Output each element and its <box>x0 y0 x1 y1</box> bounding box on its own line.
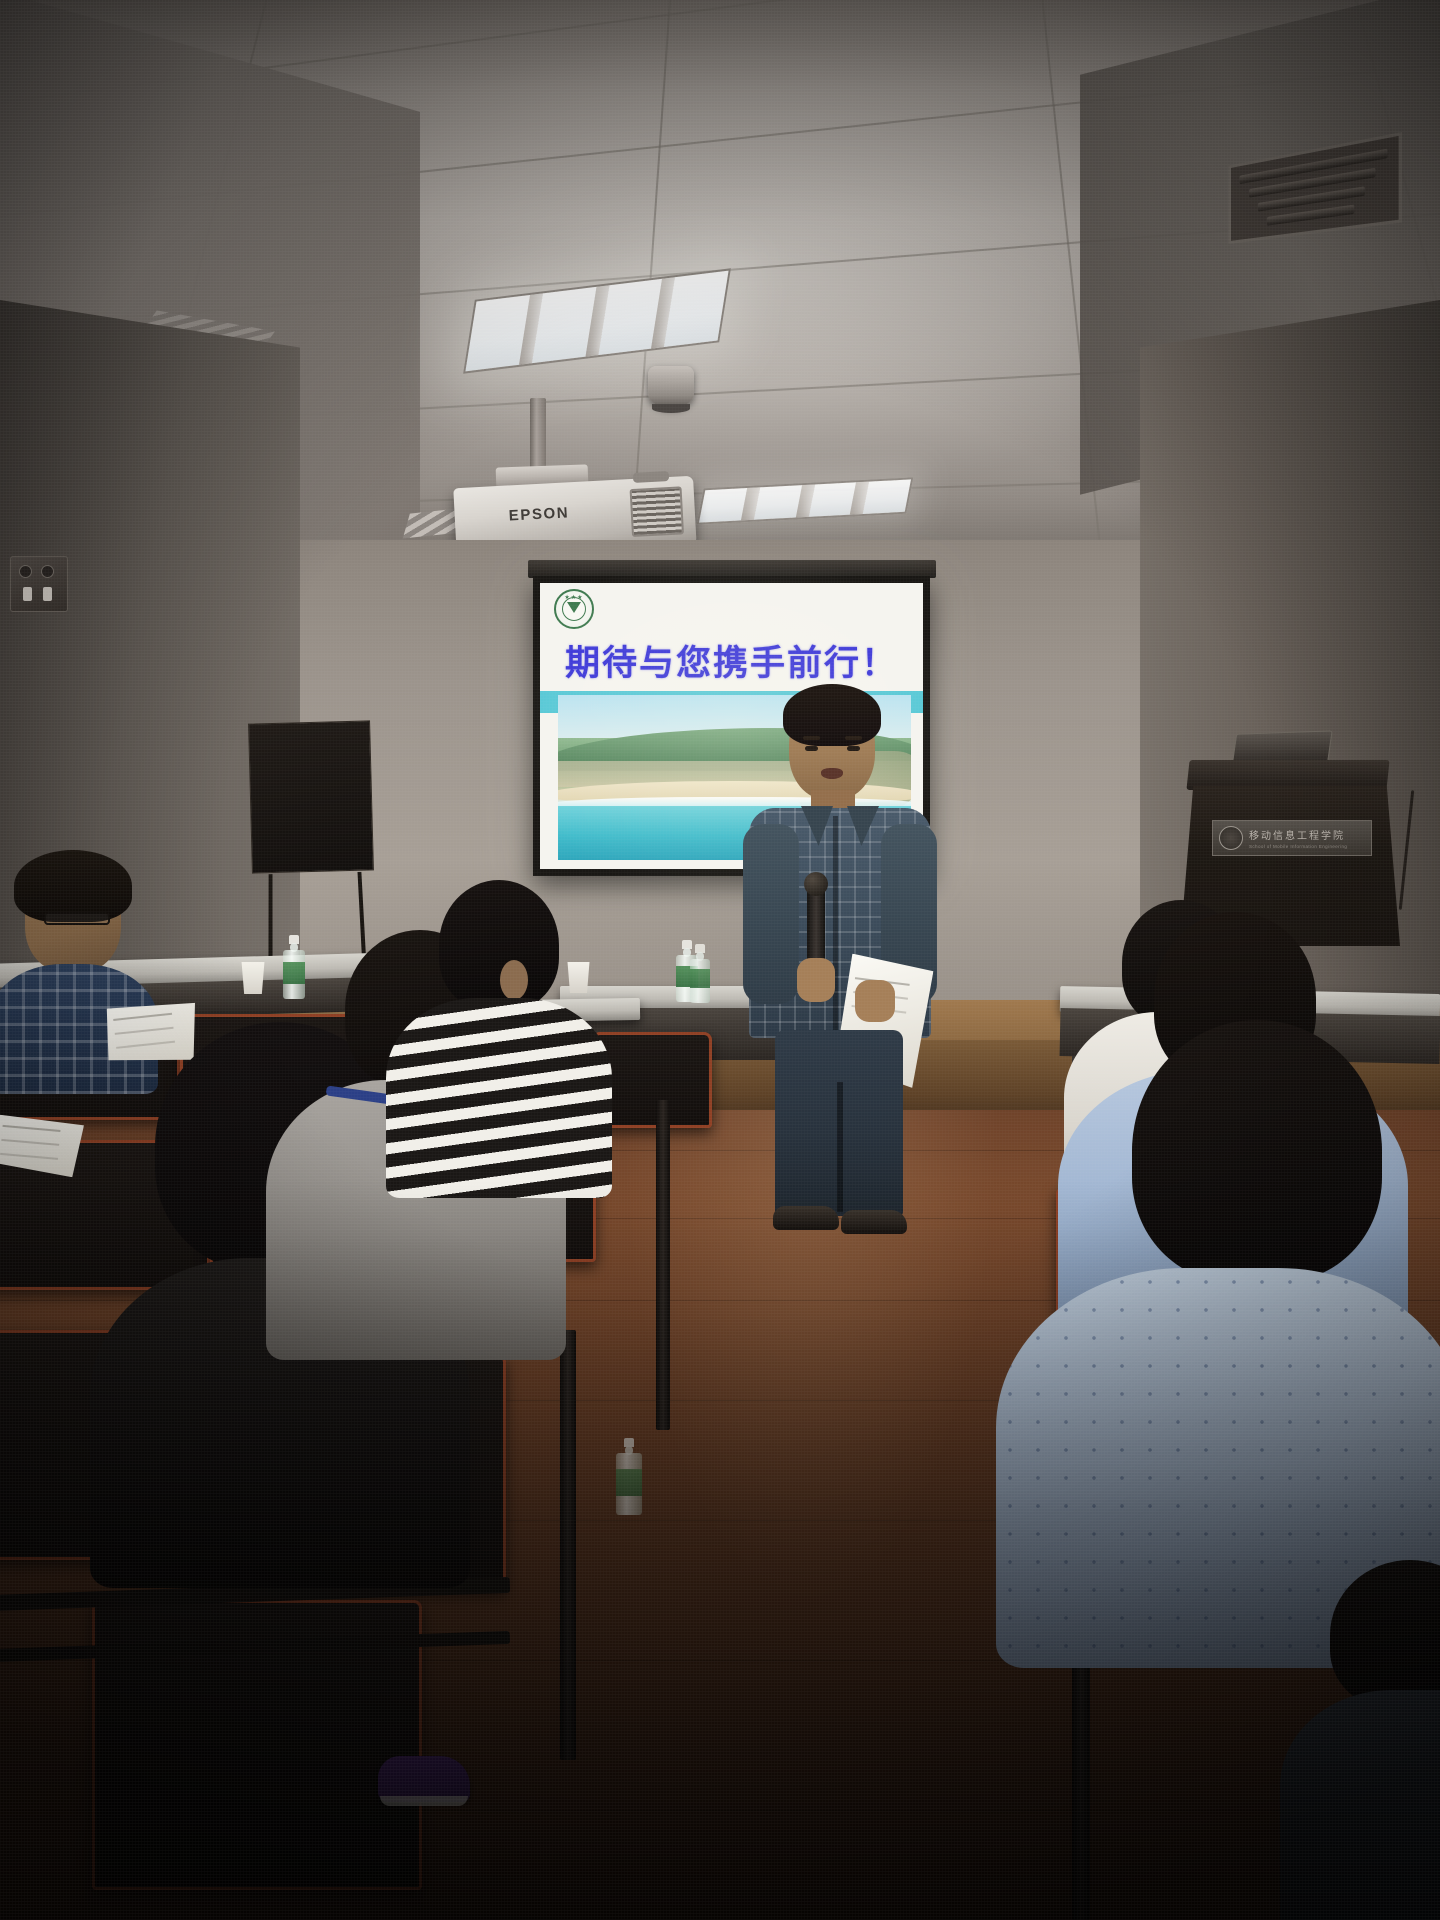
presenter-shoe-left <box>773 1206 839 1230</box>
attendee-hair <box>1330 1560 1440 1710</box>
attendee-striped-top <box>404 880 594 1200</box>
projector-brand-label: EPSON <box>508 504 569 524</box>
podium-plaque: 移动信息工程学院 School of Mobile Information En… <box>1212 820 1372 856</box>
presenter-shoe-right <box>841 1210 907 1234</box>
lecture-hall-photo: EPSON ★★★ 期待与您携手前行！ <box>0 0 1440 1920</box>
projector-vent-grille <box>630 486 684 537</box>
paper-cup-left[interactable] <box>240 962 266 994</box>
smoke-detector-icon <box>648 366 694 408</box>
school-seal-icon <box>1219 826 1243 850</box>
projector-mount-pole <box>530 398 546 476</box>
water-bottle-foreground[interactable] <box>616 1438 642 1518</box>
university-emblem-icon: ★★★ <box>554 589 594 629</box>
attendee-purple-shoe <box>378 1756 470 1802</box>
presenter-hand-right <box>855 980 895 1022</box>
podium-plaque-en: School of Mobile Information Engineering <box>1249 844 1365 849</box>
seat-support-post-centre <box>656 1100 670 1430</box>
presenter-hair <box>783 684 881 746</box>
water-bottle-centre-2[interactable] <box>690 944 710 1002</box>
seat-support-post-left <box>560 1330 576 1760</box>
attendee-hair <box>1132 1020 1382 1282</box>
attendee-dark-shirt-right <box>1310 1560 1440 1920</box>
flipchart-easel <box>248 720 374 873</box>
presenter-hand-left <box>797 958 835 1002</box>
eyeglasses-icon <box>44 912 110 925</box>
slide-title: 期待与您携手前行！ <box>540 635 923 686</box>
podium-plaque-cn: 移动信息工程学院 <box>1249 827 1365 842</box>
attendee-hair <box>439 880 559 1010</box>
attendee-ear <box>500 960 528 1000</box>
attendee-top <box>386 998 612 1198</box>
presenter <box>745 690 935 1190</box>
wall-control-panel[interactable] <box>10 556 68 612</box>
podium-top-surface <box>1186 760 1389 790</box>
